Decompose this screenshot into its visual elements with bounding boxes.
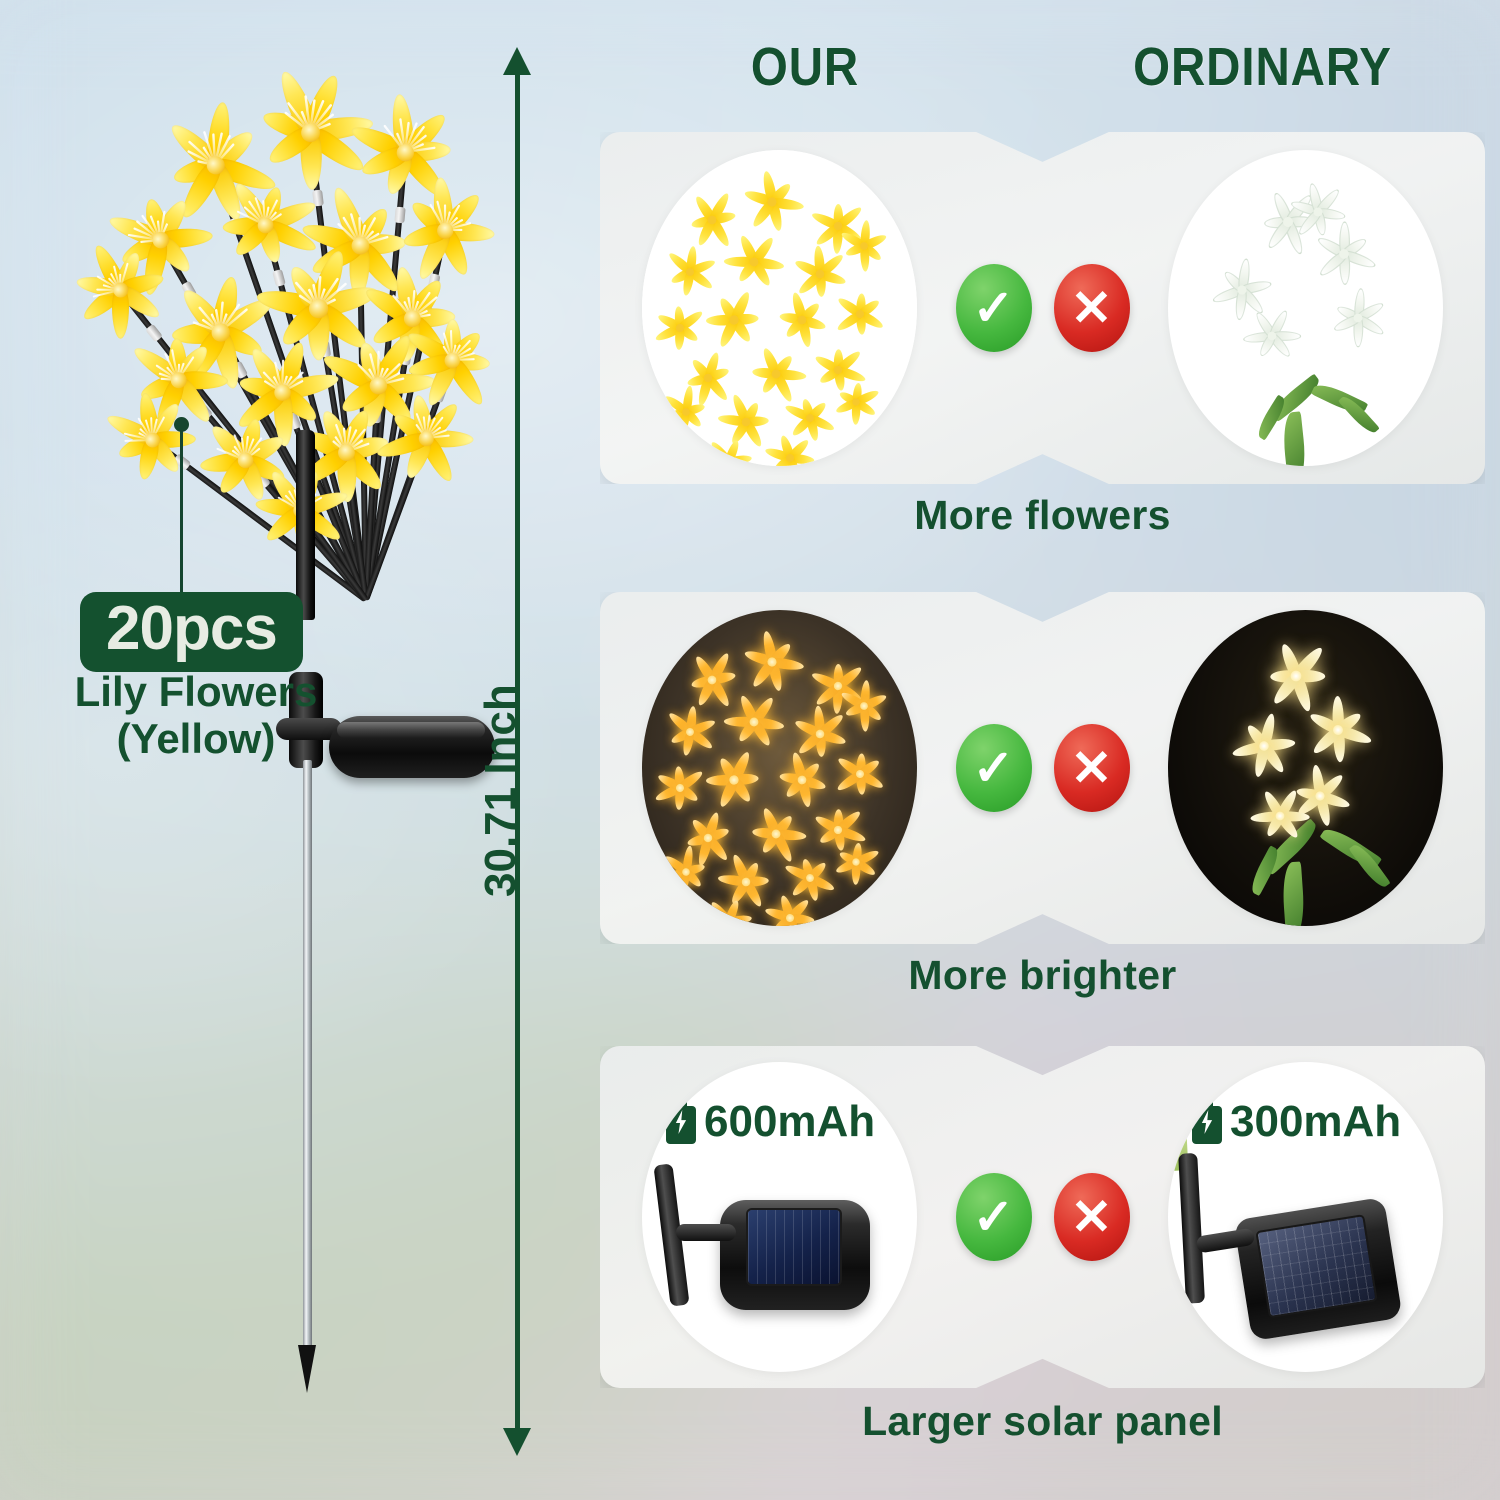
callout-leader-line: [180, 423, 183, 593]
solar-cell: [1258, 1216, 1376, 1316]
caption-more-flowers: More flowers: [585, 492, 1500, 539]
yellow-lily-bouquet: [60, 40, 480, 600]
ours-image-solar: 600mAh: [642, 1062, 917, 1372]
caption-more-brighter: More brighter: [585, 952, 1500, 999]
check-icon: ✓: [956, 1173, 1032, 1261]
solar-arm: [676, 1224, 736, 1241]
stake-rod: [303, 760, 312, 1360]
product-photo: 20pcs Lily Flowers (Yellow) 30.71 Inch: [0, 0, 540, 1500]
verdict-marks-solar: ✓ ✕: [956, 1173, 1130, 1261]
ordinary-image-solar: 300mAh: [1168, 1062, 1443, 1372]
check-icon: ✓: [956, 264, 1032, 352]
solar-arm: [1195, 1228, 1255, 1254]
ours-image-flowers: [642, 150, 917, 466]
comparison-row-solar: 600mAh 300mAh ✓ ✕: [600, 1046, 1485, 1388]
comparison-row-flowers: ✓ ✕: [600, 132, 1485, 484]
solar-cell: [748, 1210, 840, 1284]
ours-battery-badge: 600mAh: [666, 1100, 875, 1144]
ordinary-battery-capacity: 300mAh: [1230, 1100, 1401, 1144]
cross-icon: ✕: [1054, 724, 1130, 812]
stake-ground-tip: [298, 1345, 316, 1393]
round-solar-panel-illustration: [720, 1200, 870, 1310]
solar-panel-head: [329, 716, 495, 778]
ordinary-image-brightness: [1168, 610, 1443, 926]
caption-larger-solar-panel: Larger solar panel: [585, 1398, 1500, 1445]
product-name-line2: (Yellow): [66, 715, 326, 762]
pieces-badge: 20pcs: [80, 592, 303, 672]
comparison-row-brightness: ✓ ✕: [600, 592, 1485, 944]
header-ordinary: ORDINARY: [1054, 36, 1472, 98]
rectangular-solar-panel-illustration: [1233, 1197, 1402, 1341]
ordinary-image-flowers: [1168, 150, 1443, 466]
comparison-section: OUR ORDINARY ✓ ✕ More flowers ✓ ✕ More b…: [585, 0, 1500, 1500]
ours-image-brightness: [642, 610, 917, 926]
cross-icon: ✕: [1054, 264, 1130, 352]
ordinary-battery-badge: 300mAh: [1192, 1100, 1401, 1144]
battery-bolt-icon: [666, 1100, 696, 1144]
battery-bolt-icon: [1192, 1100, 1222, 1144]
header-ours: OUR: [611, 36, 998, 98]
white-lily-sparse-photo: [1168, 150, 1443, 466]
verdict-marks-brightness: ✓ ✕: [956, 724, 1130, 812]
comparison-headers: OUR ORDINARY: [585, 36, 1500, 102]
solar-post: [1178, 1153, 1205, 1304]
yellow-lily-lit-photo: [642, 610, 917, 926]
yellow-lily-bunch-photo: [642, 150, 917, 466]
verdict-marks-flowers: ✓ ✕: [956, 264, 1130, 352]
check-icon: ✓: [956, 724, 1032, 812]
cross-icon: ✕: [1054, 1173, 1130, 1261]
white-lily-dim-photo: [1168, 610, 1443, 926]
height-measurement-label: 30.71 Inch: [476, 843, 526, 897]
ours-battery-capacity: 600mAh: [704, 1100, 875, 1144]
measure-arrow-down-icon: [503, 1428, 531, 1456]
main-stem: [296, 430, 315, 620]
product-name-label: Lily Flowers (Yellow): [66, 668, 326, 762]
product-name-line1: Lily Flowers: [66, 668, 326, 715]
